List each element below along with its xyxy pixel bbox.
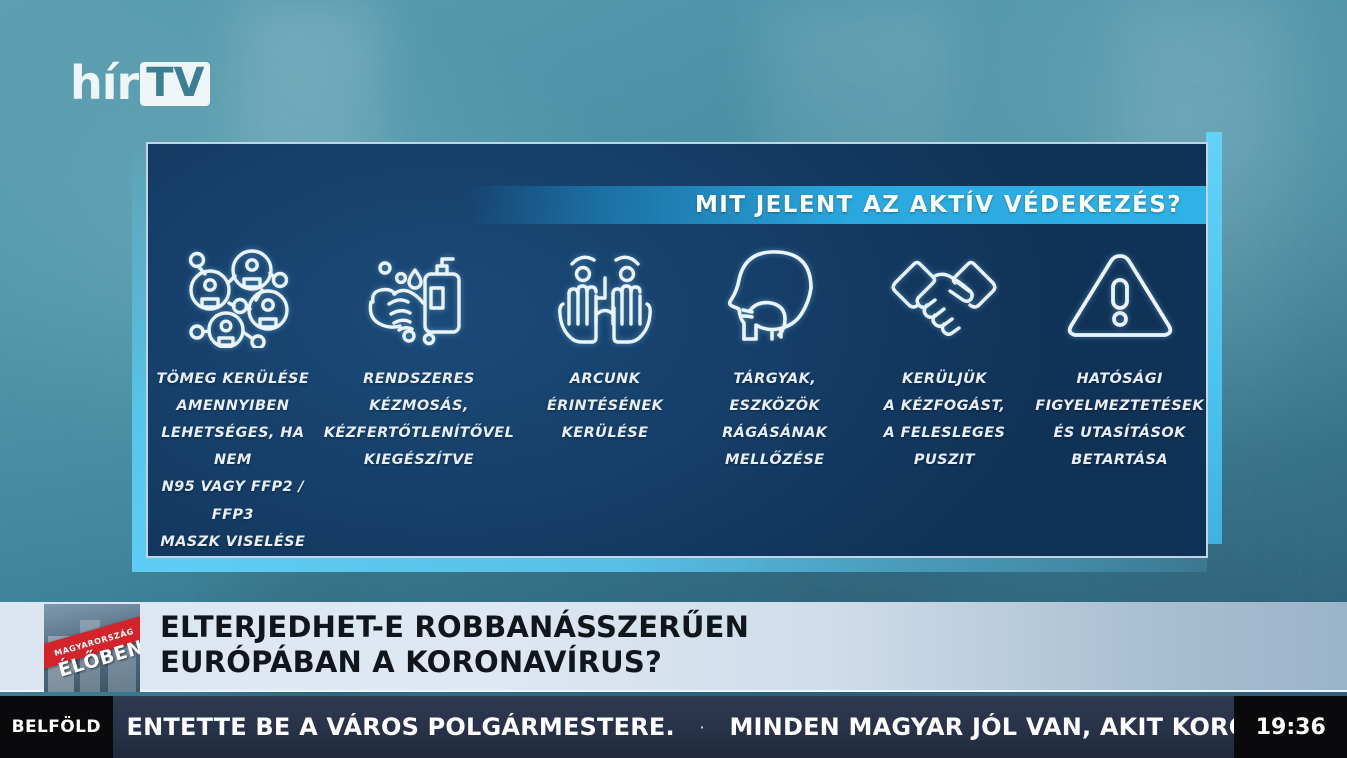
channel-logo-word: hír xyxy=(70,62,138,106)
dont-touch-face-icon xyxy=(547,240,663,352)
infographic-columns: TÖMEG KERÜLÉSE AMENNYIBEN LEHETSÉGES, HA… xyxy=(148,240,1208,558)
ticker-clock: 19:36 xyxy=(1234,696,1347,758)
channel-logo: hír TV xyxy=(70,50,210,106)
infographic-title: MIT JELENT AZ AKTÍV VÉDEKEZÉS? xyxy=(695,192,1206,218)
infographic-column-4-text: TÁRGYAK, ESZKÖZÖK RÁGÁSÁNAK MELLŐZÉSE xyxy=(716,366,833,474)
infographic-column-2: RENDSZERES KÉZMOSÁS, KÉZFERTŐTLENÍTŐVEL … xyxy=(318,240,521,558)
ticker-item: ENTETTE BE A VÁROS POLGÁRMESTERE. xyxy=(127,713,675,741)
ticker-separator: · xyxy=(699,716,706,739)
ticker-items: ENTETTE BE A VÁROS POLGÁRMESTERE. · MIND… xyxy=(113,713,1235,741)
infographic-column-3-text: ARCUNK ÉRINTÉSÉNEK KERÜLÉSE xyxy=(541,366,669,447)
live-program-badge: MAGYARORSZÁG ÉLŐBEN xyxy=(44,604,140,692)
infographic-column-6-text: HATÓSÁGI FIGYELMEZTETÉSEK ÉS UTASÍTÁSOK … xyxy=(1029,366,1208,474)
warning-triangle-icon xyxy=(1061,240,1179,352)
head-mouth-icon xyxy=(719,240,831,352)
headline-text: ELTERJEDHET-E ROBBANÁSSZERŰEN EURÓPÁBAN … xyxy=(160,610,749,681)
channel-logo-mark: TV xyxy=(140,62,210,106)
broadcast-screen: hír TV MIT JELENT AZ AKTÍV VÉDEKEZÉS? xyxy=(0,0,1347,758)
ticker-category: BELFÖLD xyxy=(0,696,113,758)
infographic-panel: MIT JELENT AZ AKTÍV VÉDEKEZÉS? xyxy=(132,132,1222,572)
panel-accent-right xyxy=(1206,132,1222,544)
panel-accent-left xyxy=(132,142,146,572)
infographic-column-2-text: RENDSZERES KÉZMOSÁS, KÉZFERTŐTLENÍTŐVEL … xyxy=(318,366,521,474)
lower-third-banner: ELTERJEDHET-E ROBBANÁSSZERŰEN EURÓPÁBAN … xyxy=(0,602,1347,692)
news-ticker: BELFÖLD ENTETTE BE A VÁROS POLGÁRMESTERE… xyxy=(0,696,1347,758)
handwash-sanitizer-icon xyxy=(361,240,477,352)
handshake-icon xyxy=(882,240,1006,352)
infographic-column-4: TÁRGYAK, ESZKÖZÖK RÁGÁSÁNAK MELLŐZÉSE xyxy=(690,240,860,558)
infographic-column-6: HATÓSÁGI FIGYELMEZTETÉSEK ÉS UTASÍTÁSOK … xyxy=(1029,240,1208,558)
infographic-title-band: MIT JELENT AZ AKTÍV VÉDEKEZÉS? xyxy=(466,186,1206,224)
infographic-column-1-text: TÖMEG KERÜLÉSE AMENNYIBEN LEHETSÉGES, HA… xyxy=(148,366,318,558)
infographic-column-1: TÖMEG KERÜLÉSE AMENNYIBEN LEHETSÉGES, HA… xyxy=(148,240,318,558)
infographic-body: MIT JELENT AZ AKTÍV VÉDEKEZÉS? xyxy=(146,142,1208,558)
ticker-item: MINDEN MAGYAR JÓL VAN, AKIT KORONA xyxy=(729,713,1234,741)
infographic-column-5: KERÜLJÜK A KÉZFOGÁST, A FELESLEGES PUSZI… xyxy=(860,240,1030,558)
infographic-column-5-text: KERÜLJÜK A KÉZFOGÁST, A FELESLEGES PUSZI… xyxy=(878,366,1012,474)
people-network-icon xyxy=(174,240,292,352)
infographic-column-3: ARCUNK ÉRINTÉSÉNEK KERÜLÉSE xyxy=(520,240,690,558)
panel-accent-bottom xyxy=(132,558,1207,572)
